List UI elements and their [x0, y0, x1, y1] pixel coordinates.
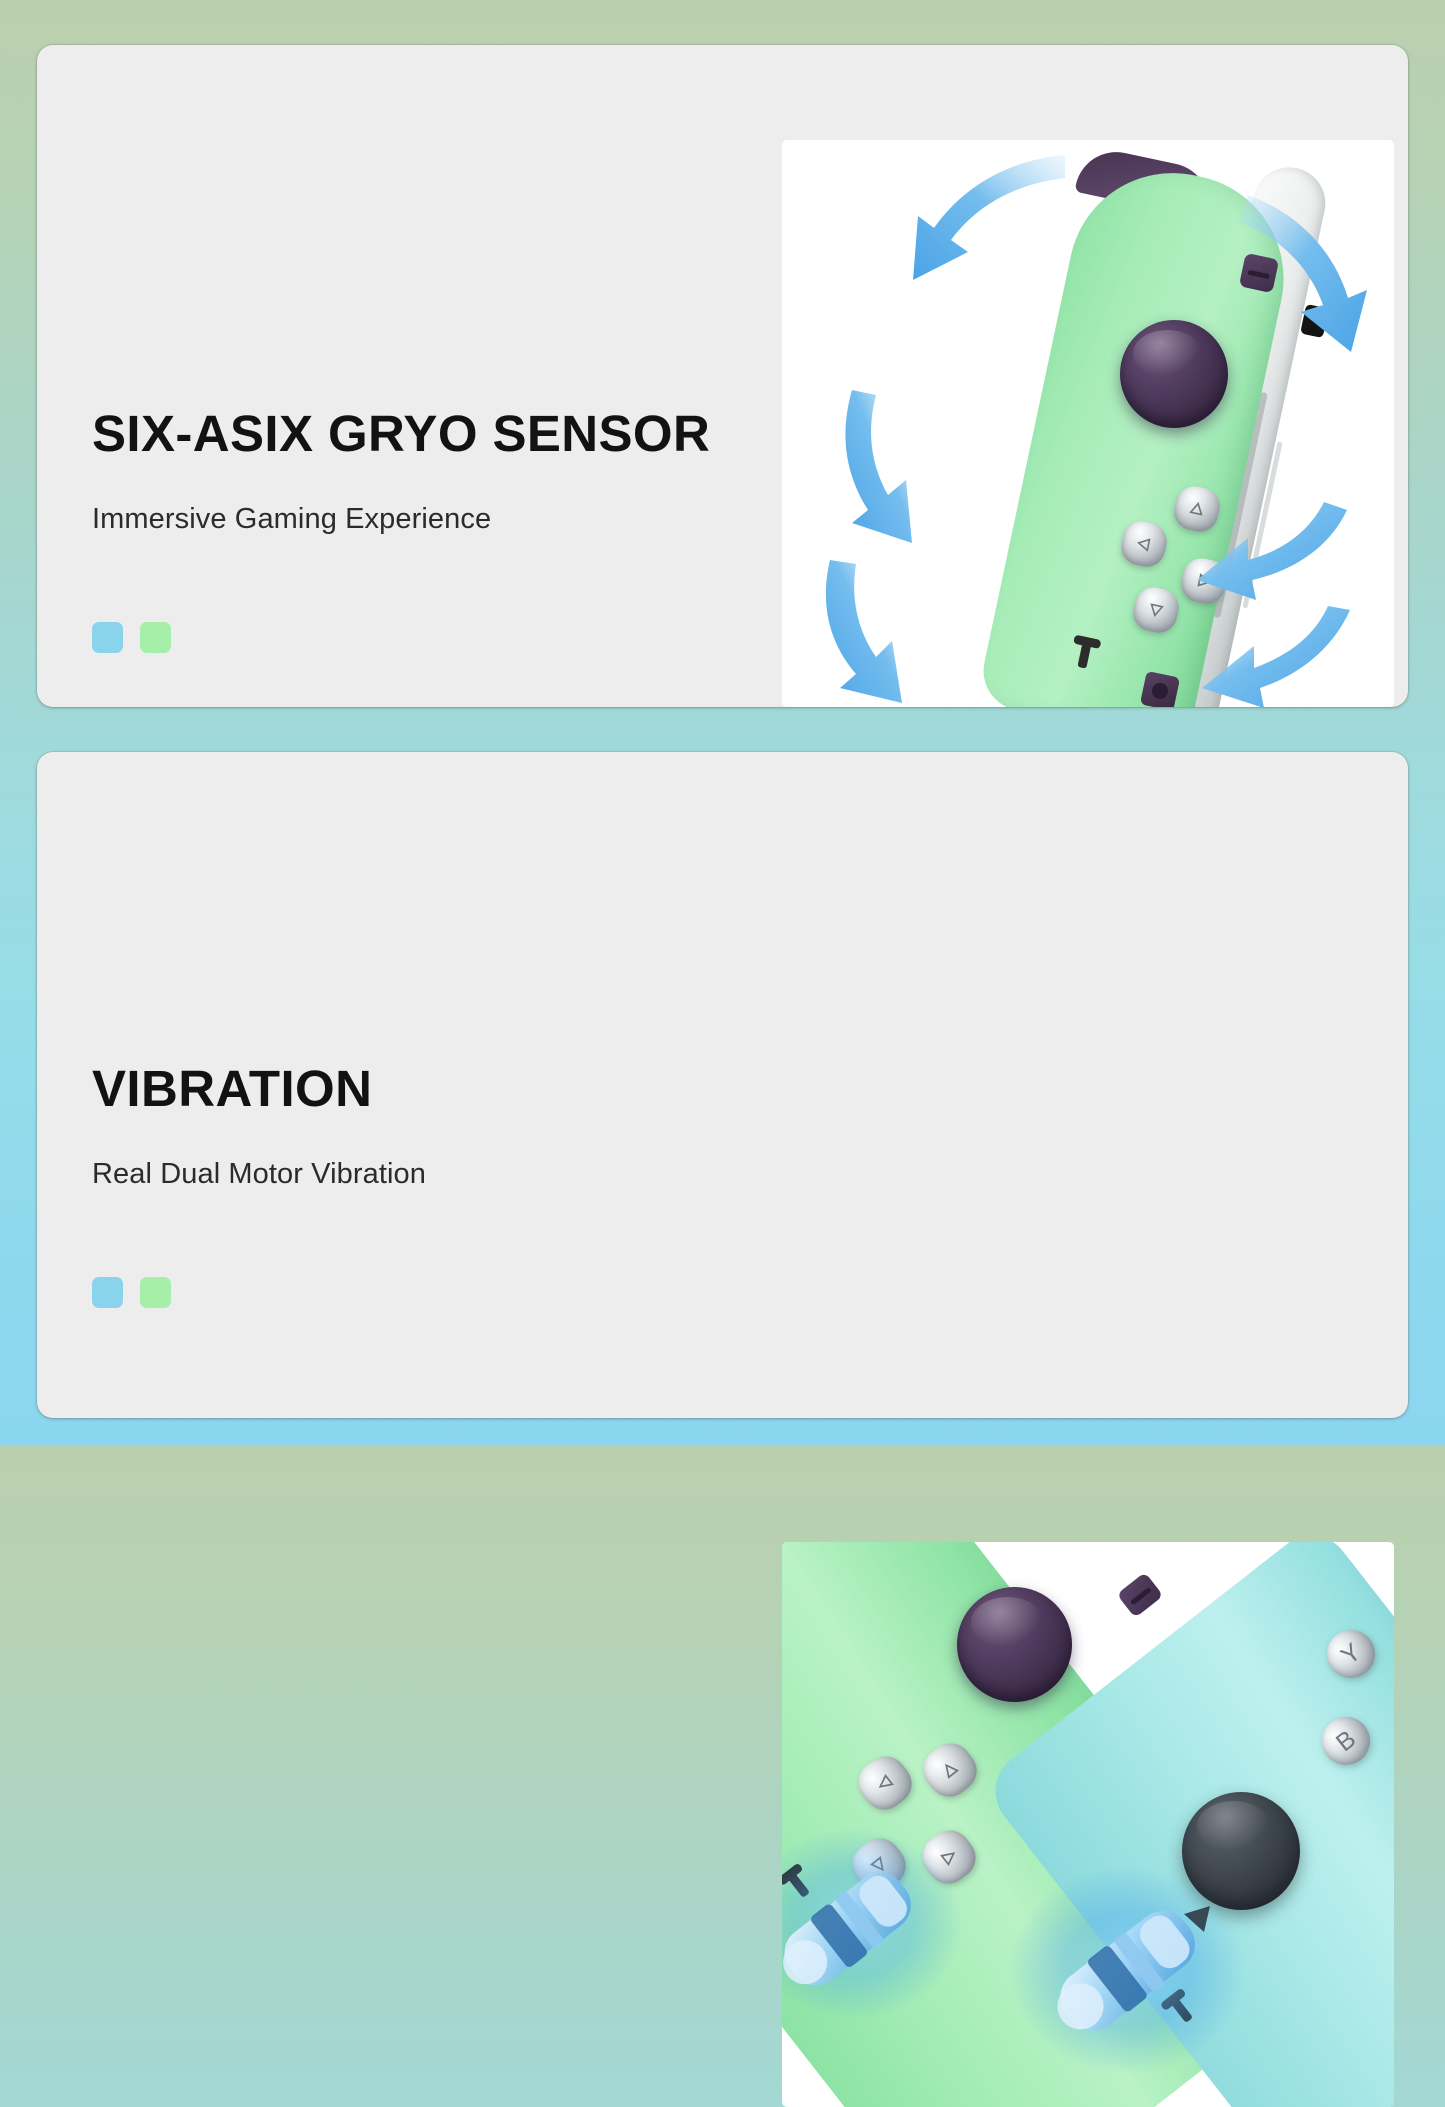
arrow-mid-right	[1197, 502, 1347, 600]
vibration-text-block: VIBRATION Real Dual Motor Vibration	[92, 1063, 426, 1308]
vibration-subline: Real Dual Motor Vibration	[92, 1160, 426, 1189]
arrow-top-right	[1239, 195, 1367, 352]
gyro-text-block: SIX-ASIX GRYO SENSOR Immersive Gaming Ex…	[92, 408, 710, 653]
vibration-motors-group	[782, 1542, 1394, 2107]
gyro-color-swatches	[92, 622, 710, 653]
rotation-arrows-group	[782, 140, 1394, 707]
arrow-bottom-left	[826, 560, 902, 703]
arrow-mid-left	[845, 390, 912, 543]
swatch-green[interactable]	[140, 622, 171, 653]
vibration-color-swatches	[92, 1277, 426, 1308]
feature-card-gyro: SIX-ASIX GRYO SENSOR Immersive Gaming Ex…	[37, 45, 1408, 707]
swatch-blue[interactable]	[92, 1277, 123, 1308]
arrow-bottom-right	[1202, 606, 1350, 707]
product-feature-graphic: SIX-ASIX GRYO SENSOR Immersive Gaming Ex…	[0, 0, 1445, 1445]
swatch-blue[interactable]	[92, 622, 123, 653]
vibration-product-photo: Y B	[782, 1542, 1394, 2107]
feature-card-vibration: VIBRATION Real Dual Motor Vibration	[37, 752, 1408, 1418]
gyro-subline: Immersive Gaming Experience	[92, 505, 710, 534]
gyro-product-photo	[782, 140, 1394, 707]
left-vibration-motor	[782, 1828, 962, 2020]
right-vibration-motor	[1009, 1866, 1245, 2074]
swatch-green[interactable]	[140, 1277, 171, 1308]
arrow-top-left	[913, 155, 1065, 280]
vibration-headline: VIBRATION	[92, 1063, 426, 1114]
gyro-headline: SIX-ASIX GRYO SENSOR	[92, 408, 710, 459]
